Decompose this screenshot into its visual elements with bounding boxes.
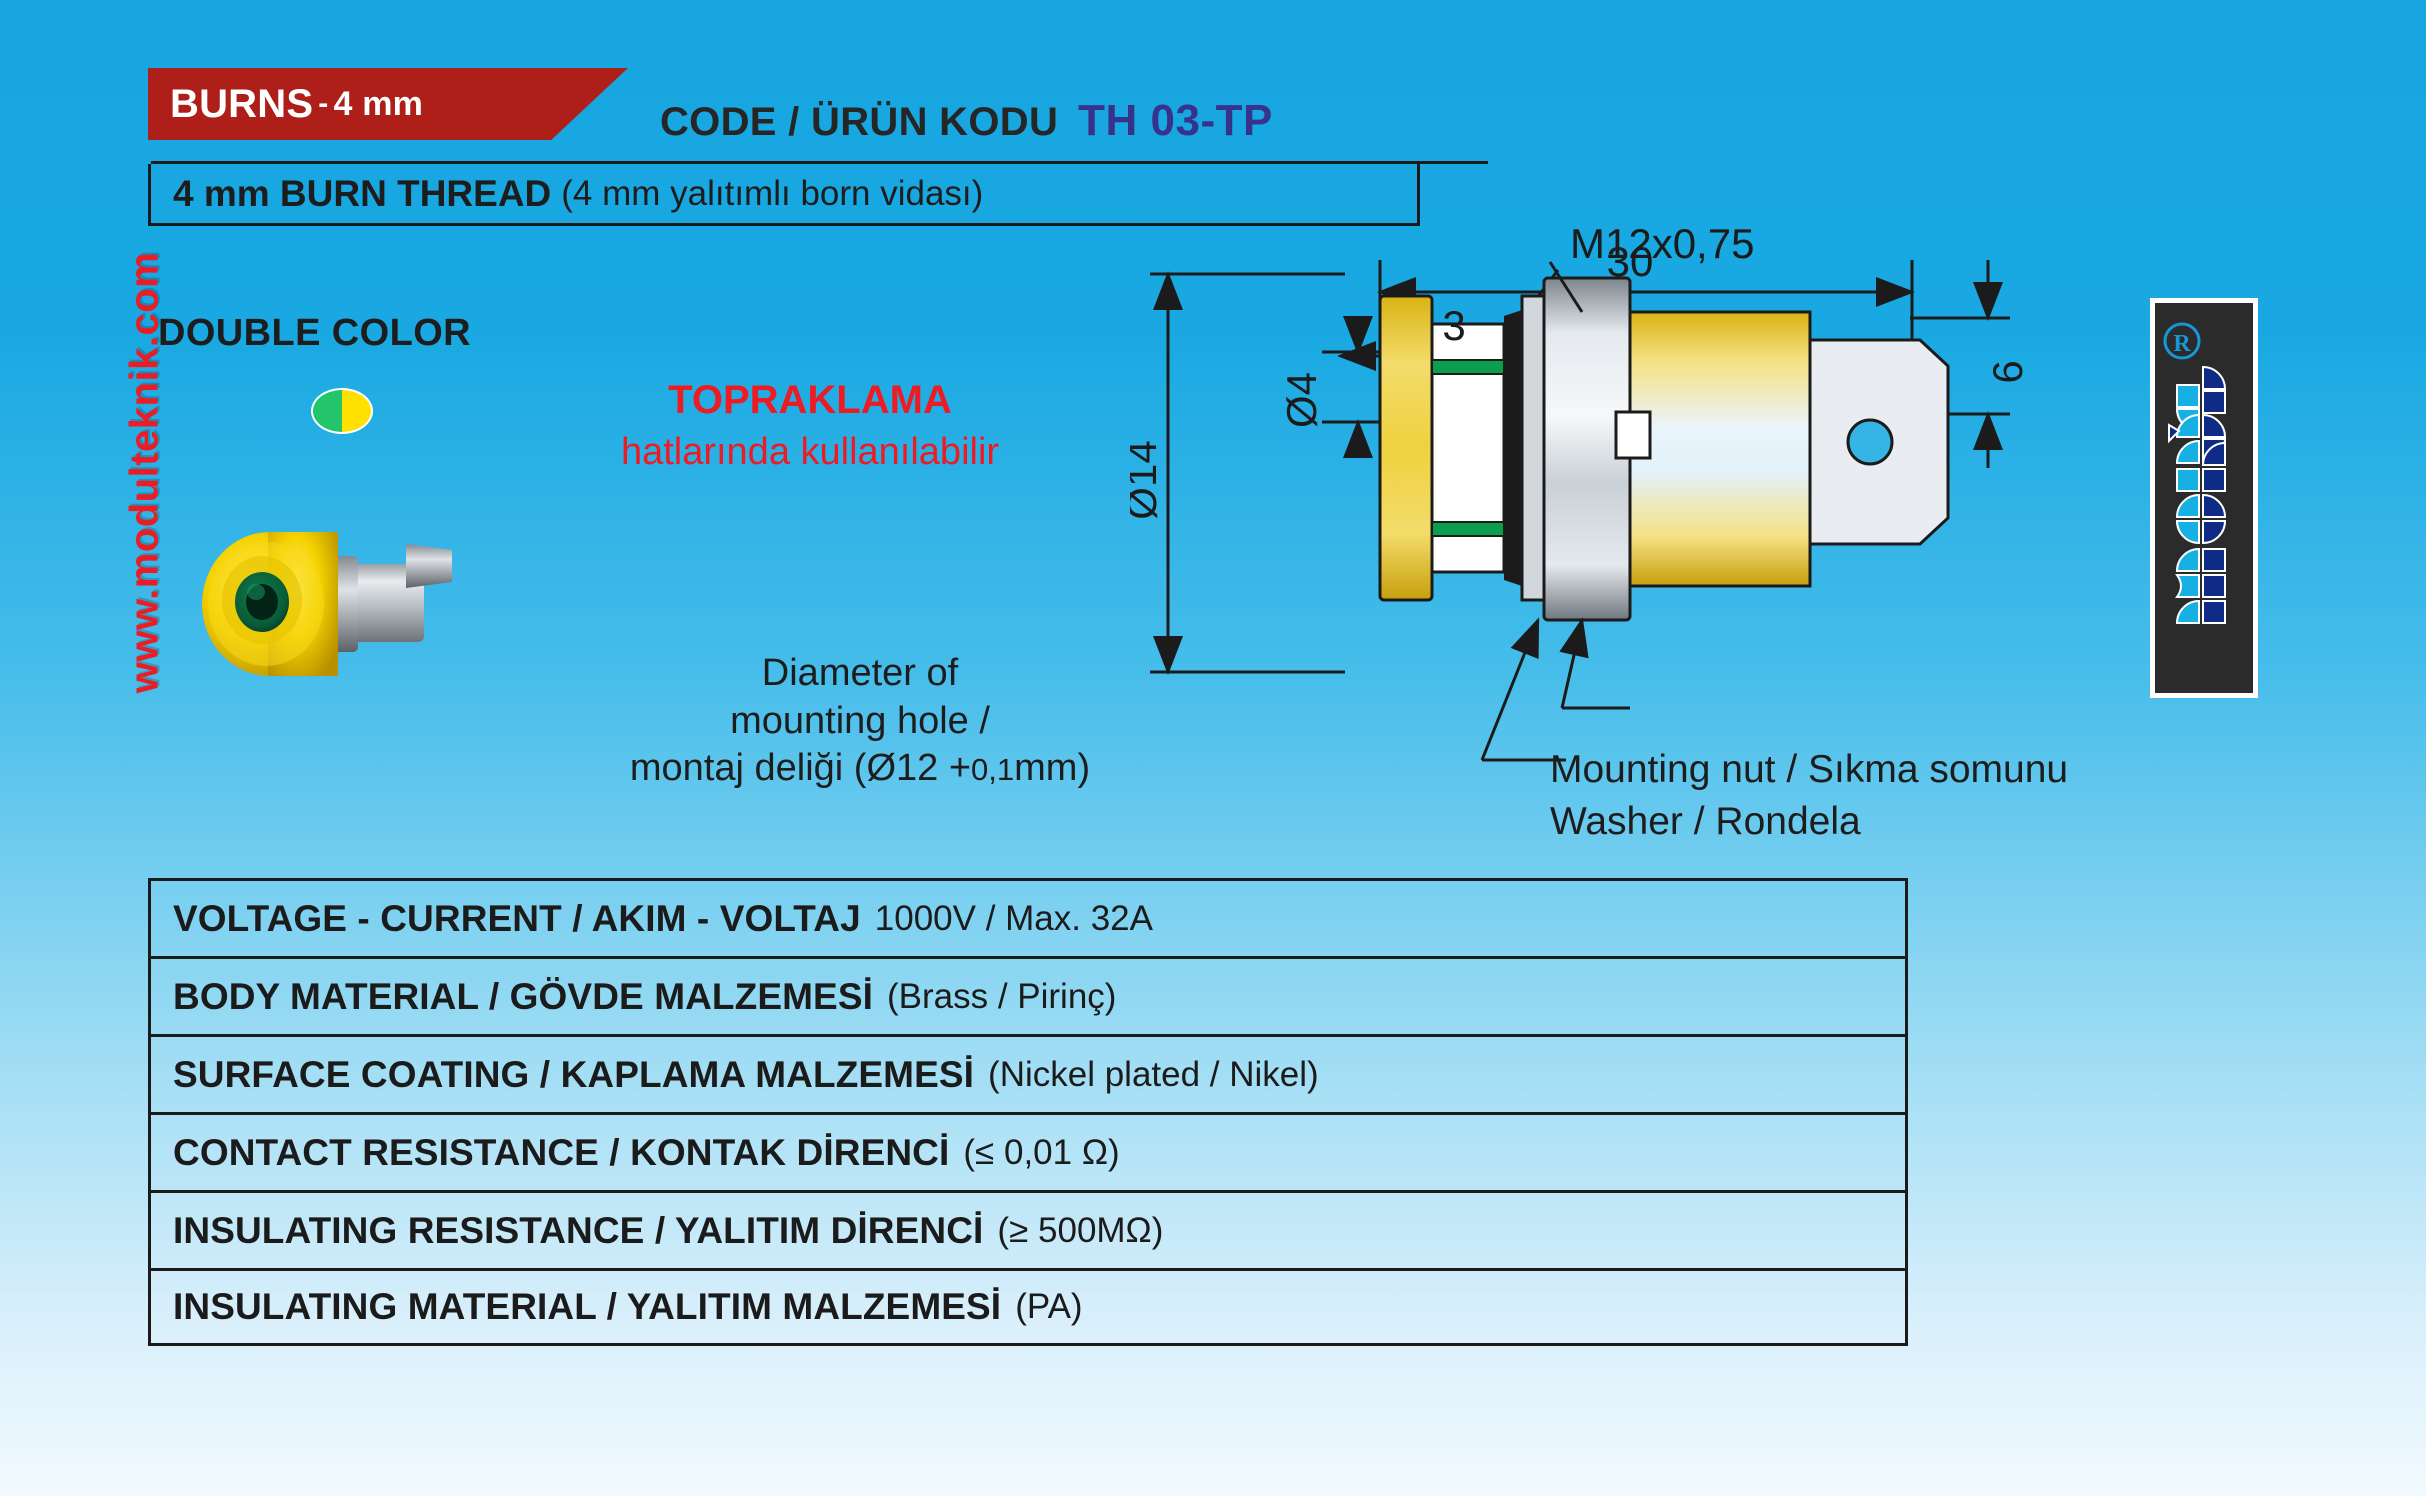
- code-label: CODE / ÜRÜN KODU: [660, 100, 1058, 145]
- spec-key: BODY MATERIAL / GÖVDE MALZEMESİ: [173, 976, 873, 1018]
- registered-trademark-icon: R: [2173, 331, 2191, 357]
- website-url: www.modulteknik.com: [123, 163, 168, 783]
- spec-key: VOLTAGE - CURRENT / AKIM - VOLTAJ: [173, 898, 861, 940]
- hole-caption-line1: Diameter of: [520, 650, 1200, 698]
- mounting-hole-caption: Diameter of mounting hole / montaj deliğ…: [520, 650, 1200, 793]
- grounding-note: TOPRAKLAMA hatlarında kullanılabilir: [570, 378, 1050, 474]
- table-row: BODY MATERIAL / GÖVDE MALZEMESİ (Brass /…: [148, 956, 1908, 1034]
- modul-logo: R: [2150, 298, 2258, 698]
- callout-mounting-nut: Mounting nut / Sıkma somunu: [1550, 748, 2068, 792]
- spec-value: 1000V / Max. 32A: [875, 899, 1153, 939]
- product-code-value: TH 03-TP: [1078, 96, 1273, 146]
- title-box-top-rule: [151, 161, 1417, 164]
- product-title-en: 4 mm BURN THREAD: [173, 173, 551, 215]
- hole-caption-tolerance: 0,1: [971, 752, 1014, 787]
- spec-value: (Nickel plated / Nikel): [988, 1055, 1319, 1095]
- grounding-note-line2: hatlarında kullanılabilir: [570, 431, 1050, 474]
- product-code-line: CODE / ÜRÜN KODU TH 03-TP: [660, 96, 1273, 146]
- dim-thread-label: M12x0,75: [1570, 220, 1754, 267]
- ribbon-dash: -: [318, 87, 328, 121]
- table-row: INSULATING MATERIAL / YALITIM MALZEMESİ …: [148, 1268, 1908, 1346]
- datasheet-page: BURNS - 4 mm CODE / ÜRÜN KODU TH 03-TP 4…: [0, 0, 2426, 1496]
- spec-value: (Brass / Pirinç): [887, 977, 1116, 1017]
- modul-logo-mark: R: [2155, 303, 2253, 693]
- dim-flange-label: 3: [1442, 302, 1465, 349]
- callout-washer: Washer / Rondela: [1550, 800, 2068, 844]
- spec-value: (≤ 0,01 Ω): [963, 1133, 1119, 1173]
- drawing-callouts: Mounting nut / Sıkma somunu Washer / Ron…: [1550, 748, 2068, 844]
- dim-outer-label: Ø14: [1130, 440, 1165, 519]
- table-row: SURFACE COATING / KAPLAMA MALZEMESİ (Nic…: [148, 1034, 1908, 1112]
- technical-drawing: 30 3 M12x0,75 Ø14 Ø4 6: [1130, 200, 2140, 820]
- ribbon-main-label: BURNS: [170, 82, 313, 127]
- hole-caption-line3-main: montaj deliği (Ø12 +: [630, 747, 971, 789]
- double-color-swatch-icon: [311, 388, 373, 434]
- spec-key: SURFACE COATING / KAPLAMA MALZEMESİ: [173, 1054, 974, 1096]
- spec-key: INSULATING RESISTANCE / YALITIM DİRENCİ: [173, 1210, 983, 1252]
- burns-ribbon: BURNS - 4 mm: [148, 68, 628, 140]
- spec-value: (PA): [1015, 1287, 1082, 1327]
- specification-table: VOLTAGE - CURRENT / AKIM - VOLTAJ 1000V …: [148, 878, 1908, 1346]
- table-row: INSULATING RESISTANCE / YALITIM DİRENCİ …: [148, 1190, 1908, 1268]
- grounding-note-line1: TOPRAKLAMA: [570, 378, 1050, 423]
- spec-value: (≥ 500MΩ): [997, 1211, 1163, 1251]
- spec-key: INSULATING MATERIAL / YALITIM MALZEMESİ: [173, 1286, 1001, 1328]
- hole-caption-line3: montaj deliği (Ø12 +0,1mm): [520, 745, 1200, 793]
- table-row: CONTACT RESISTANCE / KONTAK DİRENCİ (≤ 0…: [148, 1112, 1908, 1190]
- hole-caption-line2: mounting hole /: [520, 698, 1200, 746]
- spec-key: CONTACT RESISTANCE / KONTAK DİRENCİ: [173, 1132, 949, 1174]
- ribbon-sub-label: 4 mm: [333, 85, 423, 124]
- dim-inner-label: Ø4: [1278, 372, 1325, 428]
- table-row: VOLTAGE - CURRENT / AKIM - VOLTAJ 1000V …: [148, 878, 1908, 956]
- hole-caption-line3-end: mm): [1014, 747, 1090, 789]
- double-color-label: DOUBLE COLOR: [158, 312, 471, 355]
- product-photo: [170, 500, 490, 710]
- dim-tab-label: 6: [1984, 360, 2031, 383]
- product-title-tr: (4 mm yalıtımlı born vidası): [561, 174, 983, 214]
